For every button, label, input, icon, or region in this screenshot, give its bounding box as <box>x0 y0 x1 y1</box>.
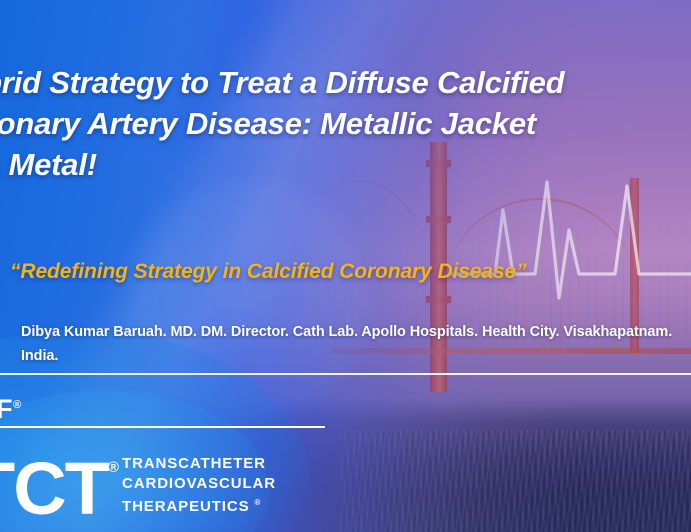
tct-tagline-registered-mark: ® <box>255 498 261 507</box>
slide-title: ybrid Strategy to Treat a Diffuse Calcif… <box>0 62 691 185</box>
slide-subtitle: “Redefining Strategy in Calcified Corona… <box>10 258 691 286</box>
tct-logo-text: TCT® <box>0 430 119 527</box>
tct-tagline-text: TRANSCATHETER CARDIOVASCULAR THERAPEUTIC… <box>122 455 276 515</box>
presentation-slide: ybrid Strategy to Treat a Diffuse Calcif… <box>0 0 691 532</box>
crf-logo-letters: RF <box>0 394 13 424</box>
logo-divider-rule <box>0 426 325 428</box>
horizontal-divider <box>0 373 691 375</box>
author-affiliation-text: Dibya Kumar Baruah. MD. DM. Director. Ca… <box>21 320 691 368</box>
tct-registered-mark: ® <box>108 459 119 476</box>
crf-logo-text: RF® <box>0 390 22 424</box>
slide-content: ybrid Strategy to Treat a Diffuse Calcif… <box>0 0 691 532</box>
crf-tct-logo-lockup: RF® TCT® TRANSCATHETER CARDIOVASCULAR TH… <box>0 390 276 520</box>
tct-tagline: TRANSCATHETER CARDIOVASCULAR THERAPEUTIC… <box>122 454 276 517</box>
crf-registered-mark: ® <box>13 399 22 411</box>
tct-logo-letters: TCT <box>0 447 108 530</box>
